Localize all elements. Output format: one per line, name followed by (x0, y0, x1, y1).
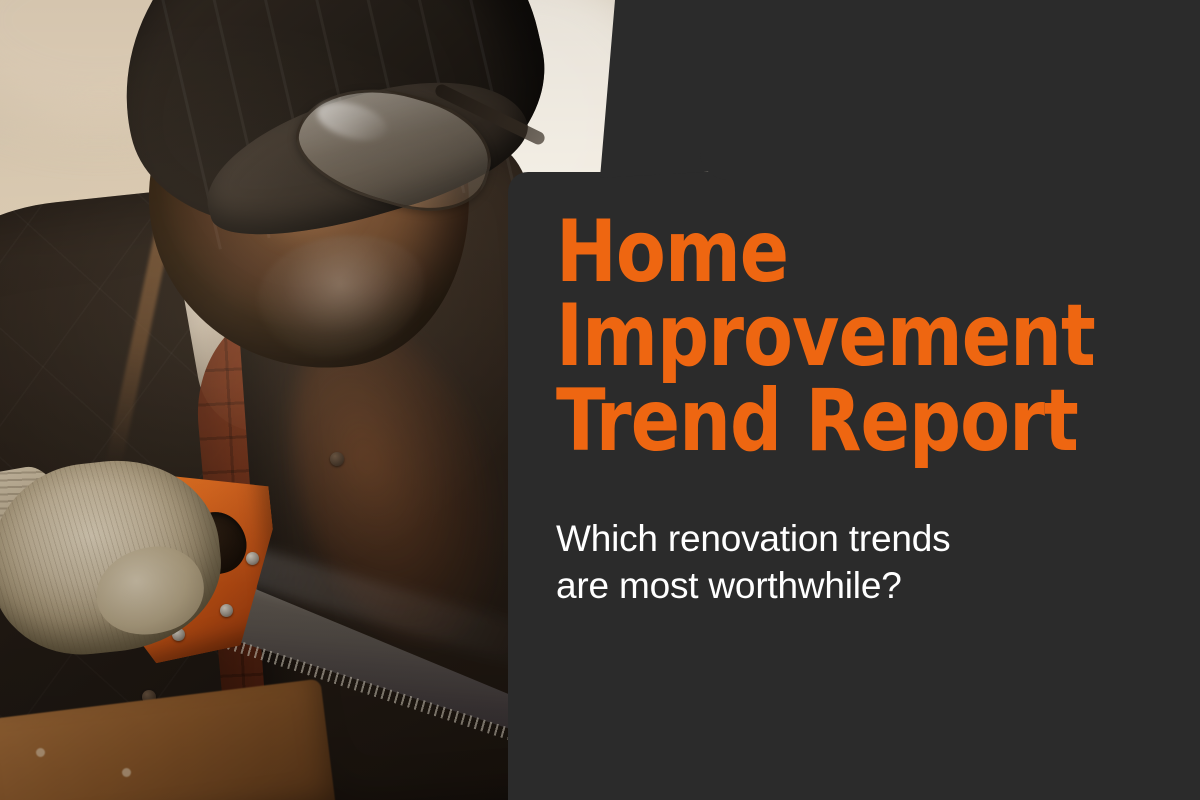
plank-nail (36, 748, 45, 757)
plank-nail (122, 768, 131, 777)
saw-rivet (246, 552, 259, 565)
page-subtitle: Which renovation trends are most worthwh… (556, 515, 1156, 610)
saw-rivet (220, 604, 233, 617)
content-panel-corner-tip (700, 96, 756, 180)
page-title: Home Improvement Trend Report (556, 210, 1120, 463)
panel-content: Home Improvement Trend Report Which reno… (556, 210, 1156, 610)
content-panel-top (740, 0, 1200, 180)
poster-root: Home Improvement Trend Report Which reno… (0, 0, 1200, 800)
jacket-button (330, 452, 344, 466)
